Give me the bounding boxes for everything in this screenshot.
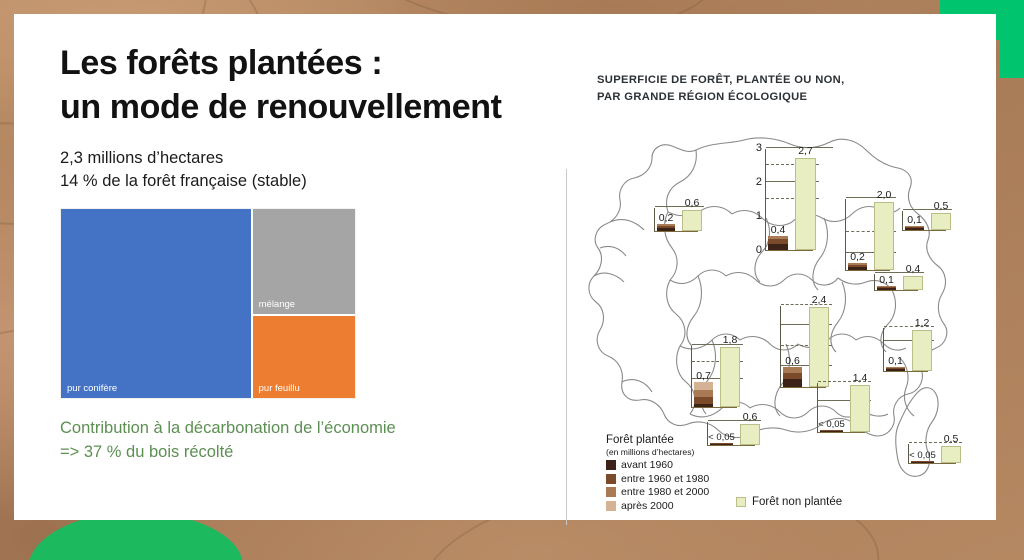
bar-planted: 0,7 [694,382,713,407]
region-chart-massif-central: 0,6 2,4 [780,306,826,388]
bar-unplanted: 2,0 [874,202,894,270]
bar-unplanted: 0,6 [682,210,702,231]
bar-unplanted: 1,8 [720,347,740,407]
y-tick-1: 1 [756,210,762,222]
legend-title: Forêt plantée [606,434,856,446]
bar-value-planted: 0,1 [888,355,903,367]
bar-planted: 0,6 [783,367,802,387]
legend-swatch-foret-non-plantee [736,497,746,507]
green-accent-right-bar [1000,0,1024,78]
bar-value-unplanted: 1,4 [853,372,868,384]
bar-planted: 0,2 [848,263,867,270]
legend-swatch-1980-2000 [606,487,616,497]
bar-planted: 0,4 [768,236,788,250]
treemap-chart: pur conifère mélange pur feuillu [60,208,356,399]
bar-planted: < 0,05 [820,430,843,432]
bar-unplanted: 1,2 [912,330,932,371]
region-chart-centre-nord: 3 2 1 0 0,4 2,7 [765,149,813,251]
bar-planted: 0,1 [905,226,924,230]
treemap-label-pur-conifere: pur conifère [67,383,117,394]
bar-value-unplanted: 0,5 [934,200,949,212]
legend-item-1960-1980: entre 1960 et 1980 [606,473,856,485]
bar-value-planted: 0,1 [907,214,922,226]
bar-value-planted: < 0,05 [818,419,845,430]
legend-label-apres-2000: après 2000 [621,500,674,512]
footnote-decarbonation: Contribution à la décarbonation de l’éco… [60,417,558,465]
region-chart-jura: 0,1 0,4 [874,274,918,291]
legend-item-foret-non-plantee: Forêt non plantée [736,496,842,508]
bar-unplanted: 0,5 [941,446,961,463]
bar-unplanted: 2,7 [795,158,816,250]
region-chart-vosges: 0,1 0,5 [902,211,946,231]
bar-planted: < 0,05 [911,461,934,463]
region-chart-corse: < 0,05 0,5 [908,444,956,464]
map-title: SUPERFICIE DE FORÊT, PLANTÉE OU NON, PAR… [597,72,845,107]
bar-value-planted: 0,2 [659,212,674,224]
map-legend: Forêt plantée (en millions d’hectares) a… [606,434,856,512]
bar-value-unplanted: 2,0 [877,189,892,201]
region-chart-grand-est: 0,2 2,0 [845,199,890,271]
bar-value-unplanted: 2,7 [798,145,813,157]
legend-swatch-apres-2000 [606,501,616,511]
legend-swatch-avant-1960 [606,460,616,470]
treemap-label-pur-feuillu: pur feuillu [259,383,300,394]
bar-value-planted: 0,6 [785,355,800,367]
bar-unplanted: 0,5 [931,213,951,230]
bar-planted: 0,1 [886,367,905,371]
bar-value-planted: 0,4 [771,224,786,236]
legend-label-avant-1960: avant 1960 [621,459,673,471]
y-tick-2: 2 [756,176,762,188]
bar-value-planted: 0,1 [879,274,894,286]
region-chart-alpes: 0,1 1,2 [883,328,928,372]
vertical-divider [566,169,567,525]
bar-unplanted: 0,4 [903,276,923,290]
legend-swatch-1960-1980 [606,474,616,484]
treemap-right-column: mélange pur feuillu [251,209,355,398]
region-chart-sud-ouest: 0,7 1,8 [691,346,737,408]
slide-card: Les forêts plantées : un mode de renouve… [14,14,996,520]
bar-value-unplanted: 1,2 [915,317,930,329]
bar-planted: 0,2 [657,224,675,231]
bar-value-unplanted: 0,6 [685,197,700,209]
bar-value-planted: < 0,05 [909,450,936,461]
legend-subtitle: (en millions d’hectares) [606,447,856,457]
subtitle-stats: 2,3 millions d’hectares 14 % de la forêt… [60,147,558,194]
treemap-cell-melange: mélange [251,209,355,314]
y-tick-0: 0 [756,244,762,256]
treemap-label-melange: mélange [259,299,295,310]
legend-item-avant-1960: avant 1960 [606,459,856,471]
page-title: Les forêts plantées : un mode de renouve… [60,42,558,129]
bar-value-unplanted: 2,4 [812,294,827,306]
treemap-cell-pur-feuillu: pur feuillu [251,314,355,398]
bar-value-unplanted: 0,6 [743,411,758,423]
legend-label-1980-2000: entre 1980 et 2000 [621,486,709,498]
bar-value-unplanted: 0,5 [944,433,959,445]
bar-value-unplanted: 0,4 [906,263,921,275]
region-chart-mediterranee: < 0,05 1,4 [817,383,865,433]
left-column: Les forêts plantées : un mode de renouve… [60,42,558,465]
region-chart-grand-ouest: 0,2 0,6 [654,208,698,232]
bar-planted: 0,1 [877,286,896,290]
bar-value-planted: 0,2 [850,251,865,263]
legend-label-1960-1980: entre 1960 et 1980 [621,473,709,485]
legend-label-foret-non-plantee: Forêt non plantée [752,496,842,508]
y-axis-ticks: 3 2 1 0 [748,149,766,250]
bar-unplanted: 1,4 [850,385,870,432]
bar-unplanted: 2,4 [809,307,829,387]
y-tick-3: 3 [756,142,762,154]
treemap-cell-pur-conifere: pur conifère [61,209,251,398]
bar-value-planted: 0,7 [696,370,711,382]
bar-value-unplanted: 1,8 [723,334,738,346]
